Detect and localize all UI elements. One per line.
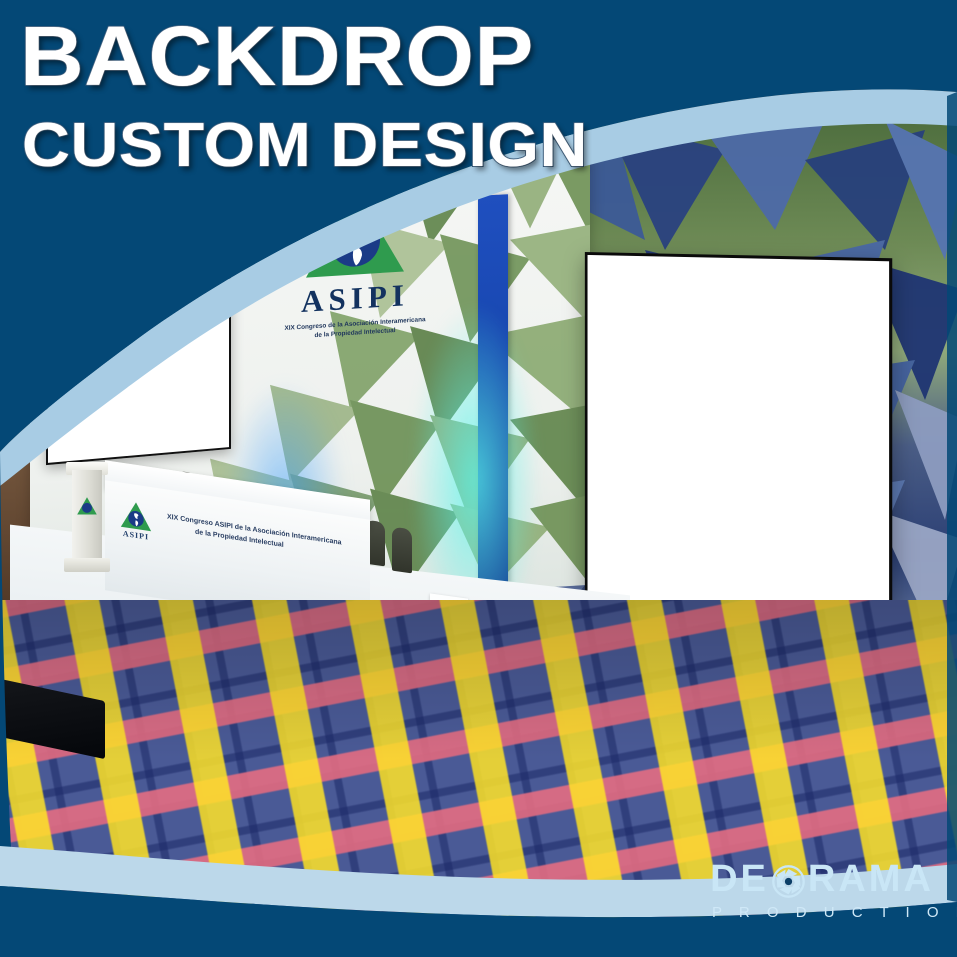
asipi-triangle-globe-icon bbox=[76, 496, 98, 516]
brand-tagline: P R O D U C T I O N bbox=[712, 904, 957, 921]
poster-canvas: ASIPI XIX Congreso de la Asociación Inte… bbox=[0, 0, 957, 957]
brand-tagline-row: P R O D U C T I O N bbox=[706, 904, 938, 921]
brand-wordmark: DE RAMA bbox=[706, 858, 938, 900]
brand-name-right: RAMA bbox=[808, 858, 934, 900]
page-title: BACKDROP bbox=[20, 8, 534, 105]
projection-screen-left bbox=[46, 274, 231, 465]
stage-light-glow-center bbox=[410, 300, 540, 600]
podium-base bbox=[64, 558, 110, 572]
page-subtitle: CUSTOM DESIGN bbox=[22, 110, 588, 181]
asipi-logo-table: ASIPI bbox=[113, 497, 159, 543]
asipi-triangle-globe-icon bbox=[300, 181, 410, 283]
brand-logo[interactable]: DE RAMA P R O D U bbox=[706, 858, 938, 930]
podium-column bbox=[72, 470, 102, 566]
brand-name-left: DE bbox=[710, 858, 769, 900]
chair bbox=[392, 527, 412, 574]
camera-aperture-icon bbox=[772, 865, 805, 898]
